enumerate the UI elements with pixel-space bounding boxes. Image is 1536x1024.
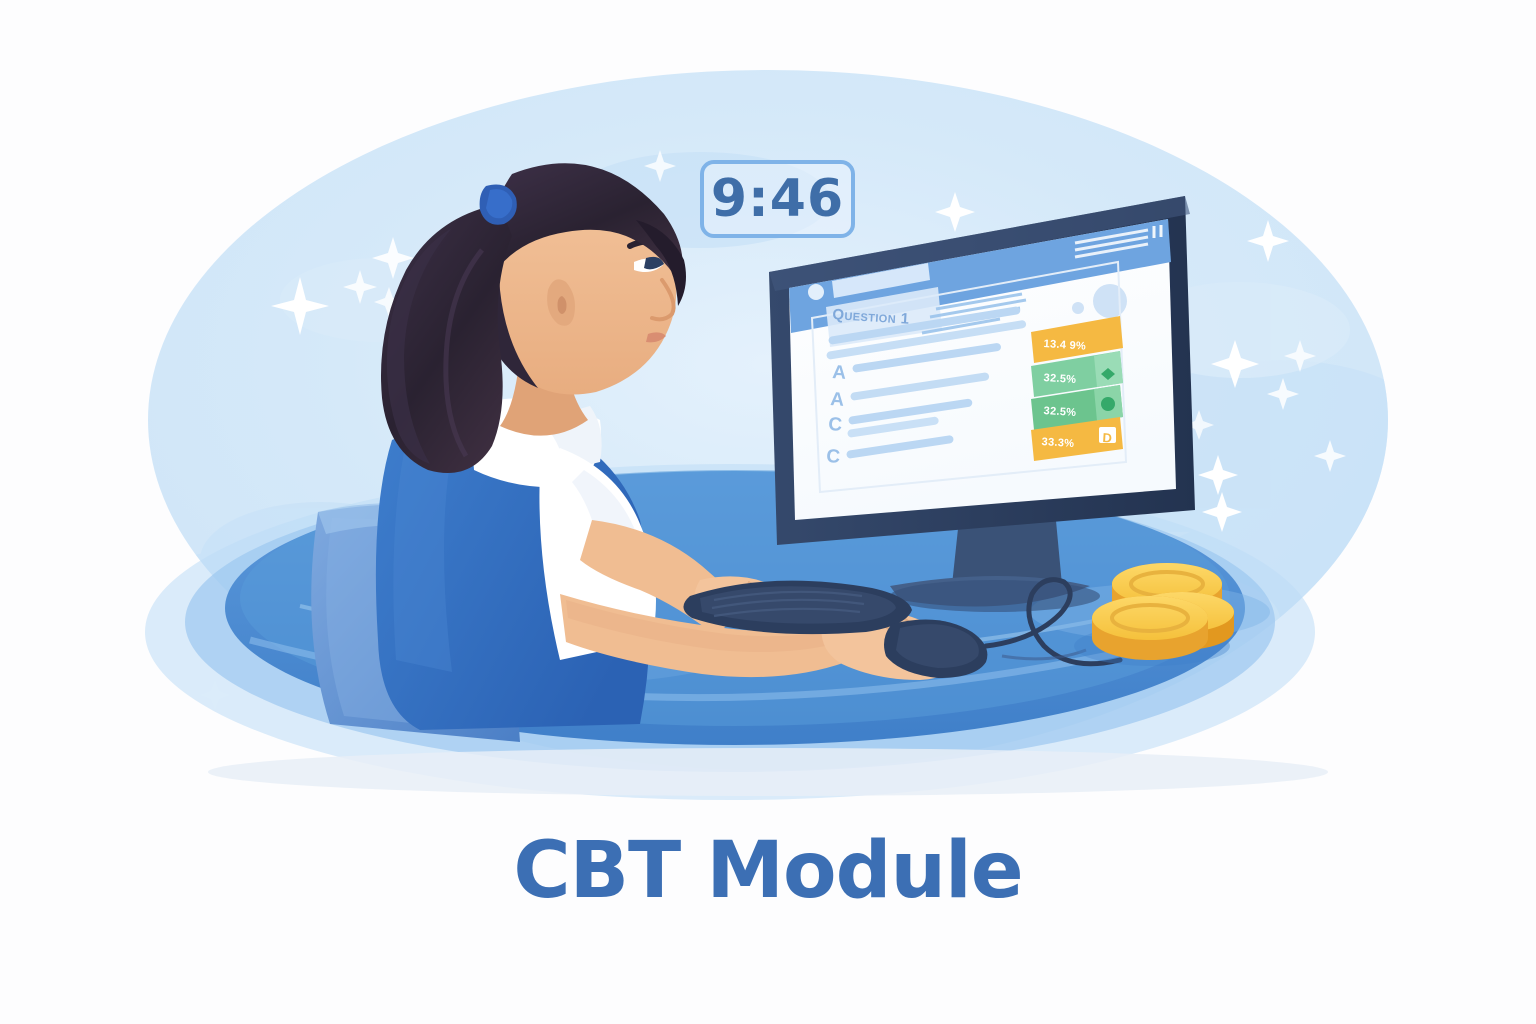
circle-icon [1101, 397, 1115, 411]
badge-d-box [1099, 427, 1116, 443]
exam-timer-badge: 9:46 [700, 160, 855, 238]
result-badges [1031, 316, 1123, 461]
avatar-circle [1093, 284, 1127, 318]
timer-value: 9:46 [711, 173, 844, 225]
coin-front [1092, 596, 1208, 660]
page-title: CBT Module [0, 826, 1536, 916]
ground-shadow [208, 748, 1328, 796]
illustration-canvas: 9:46 Question 1 A A C C 13.4 9% 32.5% 32… [0, 0, 1536, 1024]
